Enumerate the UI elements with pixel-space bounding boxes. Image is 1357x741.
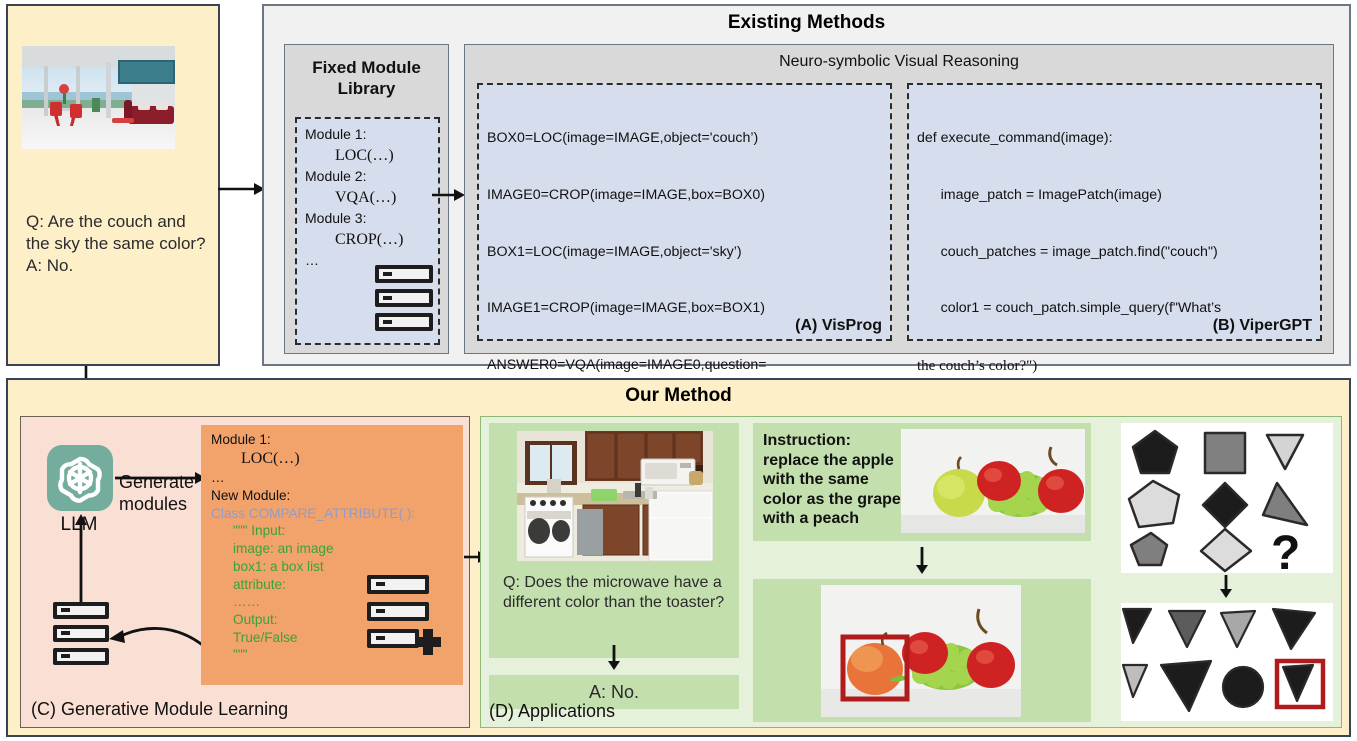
- kitchen-photo: [517, 431, 713, 561]
- section-d-caption: (D) Applications: [489, 701, 615, 722]
- arrow-stack-to-llm: [73, 513, 89, 605]
- existing-methods-panel: Existing Methods Fixed Module Library Mo…: [262, 4, 1351, 366]
- module-label-2: Module 2:: [305, 167, 445, 187]
- neuro-symbolic-reasoning-card: Neuro-symbolic Visual Reasoning BOX0=LOC…: [464, 44, 1334, 354]
- generative-module-learning-card: LLM Generate modules: [20, 416, 470, 728]
- module-label-1: Module 1:: [305, 125, 445, 145]
- code-line: IMAGE0=CROP(image=IMAGE,box=BOX0): [487, 186, 882, 205]
- our-method-panel: Our Method LLM Generate modules: [6, 378, 1351, 737]
- server-stack-plus-icon: [367, 575, 447, 655]
- qa-answer: A: No.: [26, 255, 210, 277]
- image-editing-input-card: Instruction: replace the apple with the …: [753, 423, 1091, 541]
- arrow-library-to-reasoning: [432, 188, 466, 202]
- code-line: the couch’s color?"): [917, 356, 1312, 376]
- shape-square: [1205, 433, 1245, 473]
- new-module-code-block: Module 1: LOC(…) … New Module: Class COM…: [201, 425, 463, 685]
- neuro-symbolic-reasoning-title: Neuro-symbolic Visual Reasoning: [465, 53, 1333, 71]
- code-line: color1 = couch_patch.simple_query(f"What…: [917, 299, 1312, 318]
- figure-root: Q: Are the couch and the sky the same co…: [0, 0, 1357, 741]
- code-line: BOX1=LOC(image=IMAGE,object='sky’): [487, 243, 882, 262]
- visprog-code-block: BOX0=LOC(image=IMAGE,object='couch’) IMA…: [477, 83, 892, 341]
- code-line: IMAGE1=CROP(image=IMAGE,box=BOX1): [487, 299, 882, 318]
- doc-line: """ Input:: [233, 522, 459, 540]
- arrow-question-to-answer: [607, 645, 621, 671]
- module-call-2: VQA(…): [305, 187, 445, 209]
- doc-line: box1: a box list: [233, 558, 459, 576]
- shape-circle: [1223, 667, 1263, 707]
- fixed-module-library-box: Module 1: LOC(…) Module 2: VQA(…) Module…: [295, 117, 440, 345]
- module-call: LOC(…): [211, 449, 459, 470]
- existing-methods-title: Existing Methods: [264, 12, 1349, 34]
- arrow-qa-to-library: [218, 182, 266, 196]
- applications-card: Q: Does the microwave have a different c…: [480, 416, 1342, 728]
- image-editing-output-card: [753, 579, 1091, 722]
- puzzle-prompt-grid: ?: [1121, 423, 1333, 573]
- class-declaration: Class COMPARE_ATTRIBUTE( ):: [211, 505, 459, 523]
- vipergpt-caption: (B) ViperGPT: [1213, 317, 1312, 335]
- fixed-module-library-card: Fixed Module Library Module 1: LOC(…) Mo…: [284, 44, 449, 354]
- new-module-label: New Module:: [211, 487, 459, 505]
- vqa-example-card: Q: Does the microwave have a different c…: [489, 423, 739, 658]
- vqa-question: Q: Does the microwave have a different c…: [503, 573, 731, 614]
- code-line: BOX0=LOC(image=IMAGE,object='couch’): [487, 129, 882, 148]
- module-label-3: Module 3:: [305, 209, 445, 229]
- living-room-photo: [22, 46, 175, 149]
- doc-line: image: an image: [233, 540, 459, 558]
- module-label: Module 1:: [211, 431, 459, 449]
- module-call-3: CROP(…): [305, 229, 445, 251]
- visprog-caption: (A) VisProg: [795, 317, 882, 335]
- code-line: couch_patches = image_patch.find("couch"…: [917, 243, 1312, 262]
- server-stack-icon: [375, 265, 433, 331]
- code-line: image_patch = ImagePatch(image): [917, 186, 1312, 205]
- code-line: ANSWER0=VQA(image=IMAGE0,question=: [487, 356, 882, 375]
- arrow-edit-before-to-after: [915, 547, 929, 575]
- qa-text-block: Q: Are the couch and the sky the same co…: [26, 211, 210, 277]
- fruits-apples-grapes-photo: [901, 429, 1085, 533]
- qa-question: Q: Are the couch and the sky the same co…: [26, 211, 210, 255]
- our-method-title: Our Method: [8, 385, 1349, 407]
- puzzle-answer-grid: [1121, 603, 1333, 721]
- module-list: Module 1: LOC(…) Module 2: VQA(…) Module…: [305, 125, 445, 271]
- code-line: def execute_command(image):: [917, 129, 1312, 148]
- vipergpt-code-block: def execute_command(image): image_patch …: [907, 83, 1322, 341]
- class-name: COMPARE_ATTRIBUTE( ):: [249, 506, 415, 521]
- fruits-peach-grapes-photo: [821, 585, 1021, 717]
- class-keyword: Class: [211, 506, 245, 521]
- editing-instruction: Instruction: replace the apple with the …: [763, 431, 903, 529]
- fixed-module-library-title: Fixed Module Library: [285, 57, 448, 100]
- arrow-puzzle-to-answer: [1219, 575, 1233, 599]
- server-stack-icon: [53, 602, 109, 666]
- openai-logo-icon: [47, 445, 113, 511]
- arrow-update: [103, 613, 207, 655]
- input-qa-panel: Q: Are the couch and the sky the same co…: [6, 4, 220, 366]
- module-call-1: LOC(…): [305, 145, 445, 167]
- question-mark-glyph: ?: [1271, 527, 1300, 573]
- code-ellipsis: …: [211, 469, 459, 487]
- section-c-caption: (C) Generative Module Learning: [31, 699, 288, 720]
